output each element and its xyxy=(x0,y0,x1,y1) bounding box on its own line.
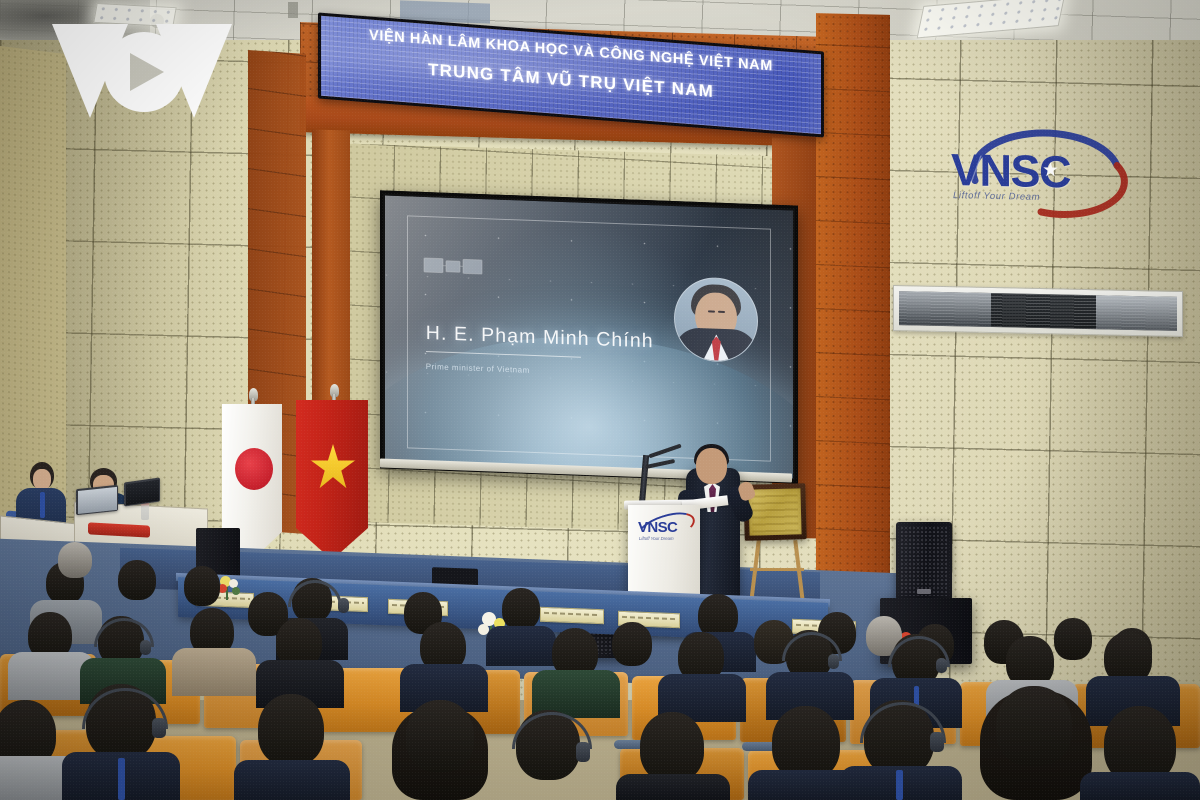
pa-speaker-right-top xyxy=(896,522,952,600)
attendee-shoulders xyxy=(172,648,256,696)
japan-flag-sun xyxy=(235,448,273,490)
attendee-head xyxy=(502,588,540,630)
attendee-head xyxy=(996,686,1072,766)
vov-letter-v-right xyxy=(156,24,232,118)
lanyard xyxy=(118,758,125,800)
attendee-shoulders xyxy=(486,626,556,666)
name-placard xyxy=(540,607,604,625)
attendee-head xyxy=(772,706,840,780)
vnsc-tagline: Liftoff Your Dream xyxy=(953,190,1040,203)
projected-slide: H. E. Phạm Minh Chính Prime minister of … xyxy=(385,196,793,479)
attendee-head xyxy=(1054,618,1092,660)
vietnam-flag xyxy=(296,400,368,560)
speaker-head xyxy=(696,448,727,484)
ceiling-speaker xyxy=(288,2,298,18)
attendee-head xyxy=(406,700,474,772)
attendee-head xyxy=(184,566,220,606)
laptop-right[interactable] xyxy=(124,477,160,506)
attendee-shoulders xyxy=(1080,772,1200,800)
headset-earcup xyxy=(930,732,944,752)
attendee-head xyxy=(612,622,652,666)
podium-wordmark: VNSC xyxy=(638,519,677,536)
attendee-head xyxy=(118,560,156,600)
laptop-left[interactable] xyxy=(76,485,118,515)
wood-pillar-center-right xyxy=(816,13,890,575)
vietnam-flag-star xyxy=(310,444,356,490)
headset-earcup xyxy=(828,654,839,669)
attendee-head xyxy=(258,694,324,766)
headset-earcup xyxy=(936,658,947,673)
wall-vent-window xyxy=(893,285,1183,337)
lanyard xyxy=(896,770,903,800)
headset-earcup xyxy=(576,742,590,762)
projection-screen: H. E. Phạm Minh Chính Prime minister of … xyxy=(380,190,798,483)
vov-watermark-logo xyxy=(52,24,232,124)
attendee-head xyxy=(640,712,704,782)
headset-earcup xyxy=(152,718,166,738)
headset-earcup xyxy=(338,598,349,613)
attendee-shoulders xyxy=(234,760,350,800)
attendee-shoulders xyxy=(616,774,730,800)
podium-vnsc-logo: VNSC Liftoff Your Dream xyxy=(636,517,692,545)
podium-tagline: Liftoff Your Dream xyxy=(639,536,674,541)
attendee-head xyxy=(58,542,92,578)
vnsc-wall-logo: VNSC Liftoff Your Dream xyxy=(945,118,1145,220)
conference-hall-photo: VIỆN HÀN LÂM KHOA HỌC VÀ CÔNG NGHỆ VIỆT … xyxy=(0,0,1200,800)
headset-earcup xyxy=(140,640,151,655)
